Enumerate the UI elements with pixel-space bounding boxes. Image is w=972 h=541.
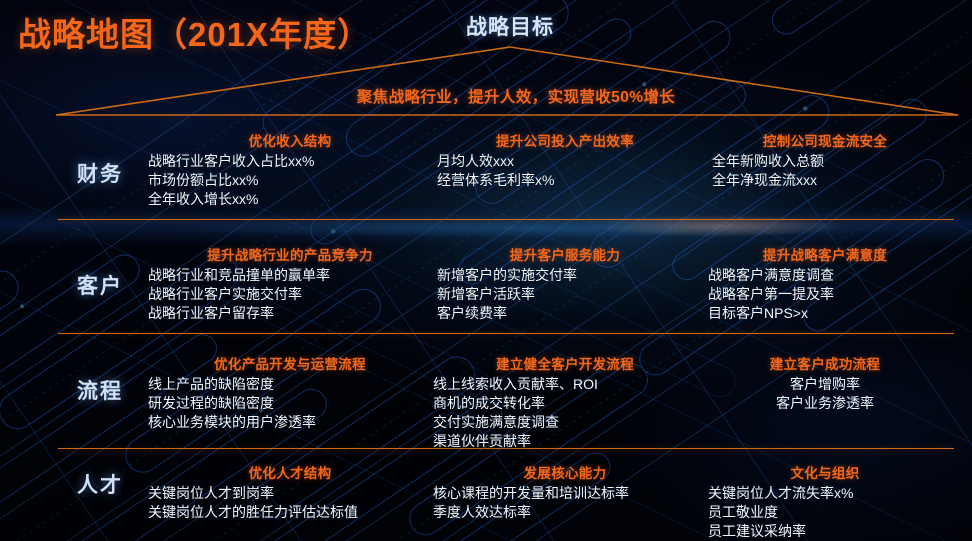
kpi-item: 员工建议采纳率 [708,522,950,541]
row-label-talent: 人才 [54,469,146,499]
row-divider-finance [58,219,954,220]
objective-heading: 建立健全客户开发流程 [425,353,705,373]
kpi-item: 战略行业客户收入占比xx% [148,152,440,171]
row-divider-customer [58,333,954,334]
kpi-list: 战略行业和竞品撞单的赢单率 战略行业客户实施交付率 战略行业客户留存率 [140,266,440,323]
kpi-list: 关键岗位人才流失率x% 员工敬业度 员工建议采纳率 [700,484,950,541]
kpi-item: 战略行业和竞品撞单的赢单率 [148,266,440,285]
perspective-row-process: 流程 优化产品开发与运营流程 线上产品的缺陷密度 研发过程的缺陷密度 核心业务模… [0,353,972,447]
objective-heading: 建立客户成功流程 [700,353,950,373]
kpi-item: 全年新购收入总额 [712,152,950,171]
kpi-list: 线上产品的缺陷密度 研发过程的缺陷密度 核心业务模块的用户渗透率 [140,375,440,432]
kpi-list: 战略行业客户收入占比xx% 市场份额占比xx% 全年收入增长xx% [140,152,440,209]
kpi-list: 核心课程的开发量和培训达标率 季度人效达标率 [425,484,705,522]
kpi-item: 交付实施满意度调查 [433,413,705,432]
kpi-item: 商机的成交转化率 [433,394,705,413]
objective-optimize-talent-structure: 优化人才结构 关键岗位人才到岗率 关键岗位人才的胜任力评估达标值 [140,462,440,522]
kpi-item: 战略行业客户留存率 [148,304,440,323]
objective-heading: 提升战略客户满意度 [700,244,950,264]
kpi-item: 目标客户NPS>x [708,304,950,323]
objective-heading: 优化产品开发与运营流程 [140,353,440,373]
kpi-item: 线上线索收入贡献率、ROI [433,375,705,394]
strategy-map-slide: 战略地图（201X年度） 战略目标 聚焦战略行业，提升人效，实现营收50%增长 … [0,0,972,541]
kpi-item: 核心课程的开发量和培训达标率 [433,484,705,503]
row-label-finance: 财务 [54,158,146,188]
kpi-item: 渠道伙伴贡献率 [433,432,705,451]
strategic-goal-statement: 聚焦战略行业，提升人效，实现营收50%增长 [0,85,972,107]
objective-control-cashflow-safety: 控制公司现金流安全 全年新购收入总额 全年净现金流xxx [700,130,950,190]
kpi-list: 客户增购率 客户业务渗透率 [700,375,950,413]
kpi-item: 战略行业客户实施交付率 [148,285,440,304]
kpi-item: 关键岗位人才到岗率 [148,484,440,503]
objective-heading: 优化人才结构 [140,462,440,482]
kpi-item: 新增客户的实施交付率 [437,266,705,285]
kpi-item: 战略客户第一提及率 [708,285,950,304]
objective-culture-and-organization: 文化与组织 关键岗位人才流失率x% 员工敬业度 员工建议采纳率 [700,462,950,541]
perspective-row-talent: 人才 优化人才结构 关键岗位人才到岗率 关键岗位人才的胜任力评估达标值 发展核心… [0,462,972,541]
kpi-item: 客户增购率 [700,375,950,394]
kpi-item: 关键岗位人才的胜任力评估达标值 [148,503,440,522]
kpi-item: 线上产品的缺陷密度 [148,375,440,394]
kpi-list: 全年新购收入总额 全年净现金流xxx [700,152,950,190]
kpi-item: 战略客户满意度调查 [708,266,950,285]
kpi-item: 全年收入增长xx% [148,190,440,209]
kpi-item: 新增客户活跃率 [437,285,705,304]
kpi-item: 经营体系毛利率x% [437,171,705,190]
kpi-item: 月均人效xxx [437,152,705,171]
objective-develop-core-capability: 发展核心能力 核心课程的开发量和培训达标率 季度人效达标率 [425,462,705,522]
objective-heading: 提升客户服务能力 [425,244,705,264]
kpi-item: 关键岗位人才流失率x% [708,484,950,503]
objective-build-customer-success-process: 建立客户成功流程 客户增购率 客户业务渗透率 [700,353,950,413]
perspective-row-finance: 财务 优化收入结构 战略行业客户收入占比xx% 市场份额占比xx% 全年收入增长… [0,130,972,218]
objective-heading: 控制公司现金流安全 [700,130,950,150]
objective-improve-strategic-customer-satisfaction: 提升战略客户满意度 战略客户满意度调查 战略客户第一提及率 目标客户NPS>x [700,244,950,323]
objective-heading: 优化收入结构 [140,130,440,150]
row-label-customer: 客户 [54,270,146,300]
kpi-item: 核心业务模块的用户渗透率 [148,413,440,432]
objective-optimize-product-dev-ops: 优化产品开发与运营流程 线上产品的缺陷密度 研发过程的缺陷密度 核心业务模块的用… [140,353,440,432]
kpi-item: 员工敬业度 [708,503,950,522]
objective-optimize-revenue-structure: 优化收入结构 战略行业客户收入占比xx% 市场份额占比xx% 全年收入增长xx% [140,130,440,209]
objective-heading: 提升战略行业的产品竞争力 [140,244,440,264]
kpi-item: 市场份额占比xx% [148,171,440,190]
objective-improve-customer-service: 提升客户服务能力 新增客户的实施交付率 新增客户活跃率 客户续费率 [425,244,705,323]
kpi-list: 月均人效xxx 经营体系毛利率x% [425,152,705,190]
kpi-list: 战略客户满意度调查 战略客户第一提及率 目标客户NPS>x [700,266,950,323]
kpi-item: 研发过程的缺陷密度 [148,394,440,413]
perspective-row-customer: 客户 提升战略行业的产品竞争力 战略行业和竞品撞单的赢单率 战略行业客户实施交付… [0,244,972,332]
kpi-list: 新增客户的实施交付率 新增客户活跃率 客户续费率 [425,266,705,323]
objective-improve-io-efficiency: 提升公司投入产出效率 月均人效xxx 经营体系毛利率x% [425,130,705,190]
page-title: 战略地图（201X年度） [18,8,371,56]
row-label-process: 流程 [54,375,146,405]
objective-heading: 文化与组织 [700,462,950,482]
kpi-item: 客户业务渗透率 [700,394,950,413]
objective-heading: 发展核心能力 [425,462,705,482]
kpi-item: 客户续费率 [437,304,705,323]
strategic-goal-label: 战略目标 [430,11,590,41]
objective-heading: 提升公司投入产出效率 [425,130,705,150]
kpi-item: 全年净现金流xxx [712,171,950,190]
kpi-list: 线上线索收入贡献率、ROI 商机的成交转化率 交付实施满意度调查 渠道伙伴贡献率 [425,375,705,451]
kpi-list: 关键岗位人才到岗率 关键岗位人才的胜任力评估达标值 [140,484,440,522]
objective-improve-product-competitiveness: 提升战略行业的产品竞争力 战略行业和竞品撞单的赢单率 战略行业客户实施交付率 战… [140,244,440,323]
objective-build-customer-development-process: 建立健全客户开发流程 线上线索收入贡献率、ROI 商机的成交转化率 交付实施满意… [425,353,705,451]
kpi-item: 季度人效达标率 [433,503,705,522]
